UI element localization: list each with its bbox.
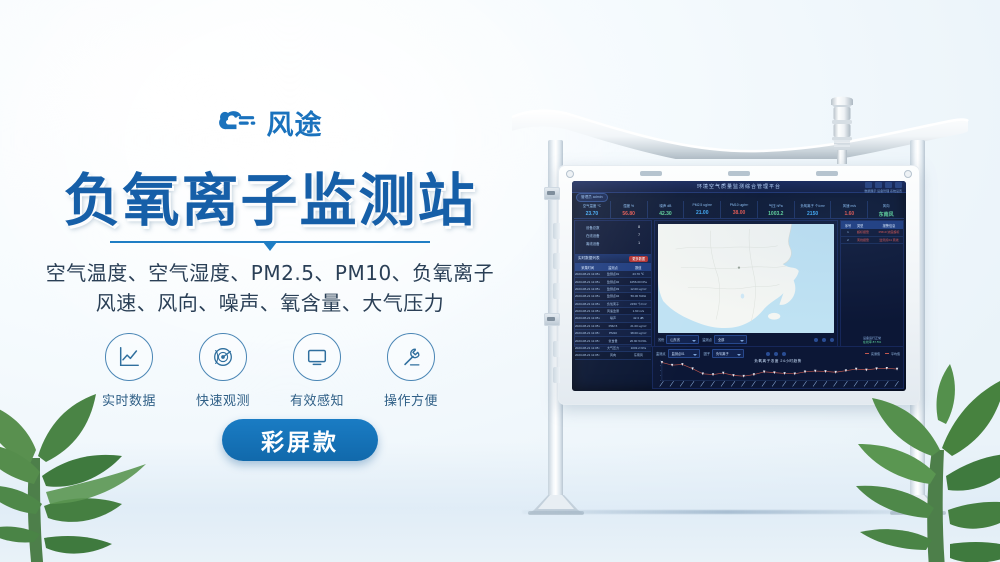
stat-cell: 风速 m/s 1.60 (831, 201, 868, 218)
data-table-columns: 采集时间 监测点 数值 (575, 263, 651, 271)
column-header: 监测点 (600, 263, 625, 271)
vent-icon (728, 171, 750, 176)
cell-time: 2023-08-21 11:05:17 (575, 345, 600, 351)
cell-index: 2 (841, 237, 855, 244)
column-header: 数值 (626, 263, 651, 271)
brand-logo: 风途 (0, 103, 540, 142)
alarm-footer: 设备运行正常 在线率 87.5% (843, 336, 901, 344)
cell-time: 2023-08-21 11:05:26 (575, 278, 600, 284)
layers-icon[interactable] (875, 182, 882, 188)
table-row[interactable]: 2023-08-21 11:05:18 氧含量 20.90 %VOL (575, 337, 651, 344)
title-divider (110, 238, 430, 248)
map-select-value[interactable]: 山东省 (666, 335, 699, 344)
chart-select-label: 因子 (704, 351, 710, 356)
stat-cell: 噪声 dB 42.30 (648, 201, 685, 218)
alarm-row[interactable]: 2 离线报警 监测点04 离线 (841, 237, 903, 245)
stat-cell: 负氧离子 个/cm³ 2150 (795, 201, 832, 218)
mini-kpi-label: 设备总数 (586, 225, 600, 230)
cell-value: 21.00 ug/m³ (626, 323, 651, 329)
cell-time: 2023-08-21 11:05:27 (575, 271, 600, 277)
mini-kpi-value: 7 (638, 233, 640, 238)
table-row[interactable]: 2023-08-21 11:05:25 监测点03 12.00 ug/m³ (575, 286, 651, 293)
view-toggle-icon[interactable] (774, 352, 778, 356)
chart-view-toggles[interactable] (766, 352, 786, 356)
cell-site: 负氧离子 (600, 301, 625, 307)
chart-legend: 实测值 平均值 (865, 352, 900, 356)
feature-label: 快速观测 (192, 390, 254, 409)
map-controls[interactable]: 省份 山东省 监测点 全部 (658, 335, 834, 344)
table-row[interactable]: 2023-08-21 11:05:16 风向 东南风 (575, 352, 651, 359)
dashboard-toolbar-label: 数据展示 设备管理 系统设置 (864, 189, 902, 193)
mini-kpi-list: 设备总数 8 在线设备 7 离线设备 1 (575, 221, 651, 252)
map-select-label: 监测点 (702, 337, 712, 342)
stat-label: 风速 m/s (831, 203, 867, 208)
fengtu-cloud-logo-icon (218, 108, 258, 138)
cell-time: 2023-08-21 11:05:19 (575, 330, 600, 336)
stat-value: 东南风 (868, 211, 904, 218)
side-tab (553, 253, 560, 269)
cell-time: 2023-08-21 11:05:21 (575, 315, 600, 321)
stat-value: 23.70 (574, 211, 610, 217)
cell-time: 2023-08-21 11:05:16 (575, 352, 600, 358)
dashboard-header: 环境空气质量监测综合管理平台 数据展示 设备管理 系统设置 (572, 181, 906, 193)
cell-time: 2023-08-21 11:05:20 (575, 323, 600, 329)
stat-label: 风向 (868, 203, 904, 208)
view-toggle-icon[interactable] (766, 352, 770, 356)
stat-label: 空气温度 ℃ (574, 203, 610, 208)
color-screen-cta-button[interactable]: 彩屏款 (222, 419, 378, 461)
column-header: 报警信息 (875, 221, 903, 229)
cell-value: 42.3 dB (626, 315, 651, 321)
cell-type: 离线报警 (855, 237, 875, 244)
feature-item-fast-observation[interactable]: 快速观测 (192, 333, 254, 409)
stat-value: 21.00 (684, 210, 720, 216)
stat-cell: PM10 ug/m³ 38.00 (721, 201, 758, 218)
more-data-button[interactable]: 更多数据 (629, 256, 648, 262)
cell-site: 监测点01 (600, 271, 625, 277)
chart-toolbar[interactable]: 监测点 监测点01 因子 负氧离子 实测值 (653, 347, 903, 358)
cabinet-top-trim (566, 169, 912, 178)
cell-value: 38.00 ug/m³ (626, 330, 651, 336)
stat-cell: PM2.5 ug/m³ 21.00 (684, 201, 721, 218)
page-title: 负氧离子监测站 (0, 155, 540, 237)
dashboard-middle: 设备总数 8 在线设备 7 离线设备 1 (574, 220, 904, 347)
stat-cell: 气压 hPa 1003.2 (758, 201, 795, 218)
radar-observation-icon (211, 345, 235, 369)
line-chart-icon (117, 345, 141, 369)
feature-icon-ring (293, 333, 341, 381)
cell-site: 风速监测 (600, 308, 625, 314)
legend-dot-icon (814, 338, 818, 342)
cell-time: 2023-08-21 11:05:18 (575, 337, 600, 343)
chart-select-value[interactable]: 负氧离子 (712, 349, 744, 358)
chart-select-value[interactable]: 监测点01 (668, 349, 700, 358)
stat-label: PM10 ug/m³ (721, 203, 757, 207)
data-table-header: 实时数据列表 更多数据 (575, 254, 651, 263)
cell-value: 20.90 %VOL (626, 337, 651, 343)
data-table-body: 2023-08-21 11:05:27 监测点01 23.70 ℃ 2023-0… (575, 271, 651, 360)
wrench-icon (399, 345, 423, 369)
realtime-data-panel: 设备总数 8 在线设备 7 离线设备 1 (574, 220, 652, 347)
vent-icon (816, 171, 838, 176)
cell-message: 监测点04 离线 (875, 237, 903, 244)
side-tab (553, 367, 560, 383)
table-row[interactable]: 2023-08-21 11:05:27 监测点01 23.70 ℃ (575, 271, 651, 278)
foliage-right-decoration (834, 360, 1000, 562)
screw-icon (904, 170, 912, 178)
chart-icon[interactable] (885, 182, 892, 188)
mini-kpi-value: 8 (638, 225, 640, 230)
dashboard-title: 环境空气质量监测综合管理平台 (697, 183, 781, 190)
cell-time: 2023-08-21 11:05:23 (575, 301, 600, 307)
map-panel[interactable]: 省份 山东省 监测点 全部 (654, 220, 838, 347)
alarm-table-header: 序号 类型 报警信息 (841, 221, 903, 229)
legend-item: 平均值 (885, 352, 900, 356)
chart-select-label: 监测点 (656, 351, 666, 356)
chart-select-site[interactable]: 监测点 监测点01 (656, 349, 700, 358)
stat-value: 2150 (795, 211, 831, 217)
stats-bar: 空气温度 ℃ 23.70 湿度 % 56.80 噪声 dB 42.30 PM2.… (574, 201, 904, 219)
alarm-row[interactable]: 1 超标报警 PM10 浓度超标 (841, 229, 903, 237)
side-tab (553, 283, 560, 299)
table-row[interactable]: 2023-08-21 11:05:19 PM10 38.00 ug/m³ (575, 330, 651, 337)
ultrasonic-weather-sensor-icon (822, 95, 862, 167)
divider-triangle-icon (263, 242, 277, 251)
cell-value: 23.70 ℃ (626, 271, 651, 277)
stat-value: 38.00 (721, 210, 757, 216)
column-header: 序号 (841, 221, 855, 229)
column-header: 类型 (855, 221, 875, 229)
subtitle-line-2: 风速、风向、噪声、氧含量、大气压力 (0, 288, 540, 318)
table-row[interactable]: 2023-08-21 11:05:22 风速监测 1.60 m/s (575, 308, 651, 315)
mini-kpi-value: 1 (638, 241, 640, 246)
stat-cell: 空气温度 ℃ 23.70 (574, 201, 611, 218)
cell-value: 2150 个/cm³ (626, 301, 651, 307)
foliage-left-decoration (0, 372, 180, 562)
grid-icon[interactable] (865, 182, 872, 188)
cell-site: PM10 (600, 330, 625, 336)
cell-site: 监测点04 (600, 293, 625, 299)
screw-icon (566, 170, 574, 178)
feature-icon-ring (387, 333, 435, 381)
cell-site: 风向 (600, 352, 625, 358)
cell-site: 监测点02 (600, 278, 625, 284)
feature-label: 操作方便 (380, 390, 442, 409)
cell-index: 1 (841, 229, 855, 236)
feature-icon-ring (199, 333, 247, 381)
mini-kpi-item: 在线设备 7 (580, 233, 646, 238)
stat-label: 噪声 dB (648, 203, 684, 208)
column-header: 采集时间 (575, 263, 600, 271)
mini-kpi-label: 在线设备 (586, 233, 600, 238)
vent-icon (640, 171, 662, 176)
cell-site: 噪声 (600, 315, 625, 321)
table-row[interactable]: 2023-08-21 11:05:26 监测点02 1056.00 hPa (575, 278, 651, 285)
feature-item-easy-operation[interactable]: 操作方便 (380, 333, 442, 409)
hinge-bracket-top (544, 187, 560, 200)
legend-dot-icon (822, 338, 826, 342)
brand-name: 风途 (267, 103, 323, 142)
map-select-label: 省份 (658, 337, 664, 342)
view-toggle-icon[interactable] (782, 352, 786, 356)
china-map[interactable] (658, 224, 834, 333)
cell-time: 2023-08-21 11:05:25 (575, 286, 600, 292)
stat-cell: 风向 东南风 (868, 201, 904, 218)
table-row[interactable]: 2023-08-21 11:05:24 监测点04 56.00 %RH (575, 293, 651, 300)
cell-site: 监测点03 (600, 286, 625, 292)
stat-label: 气压 hPa (758, 203, 794, 208)
cell-type: 超标报警 (855, 229, 875, 236)
dashboard-toolbar[interactable] (865, 182, 902, 188)
map-select-value[interactable]: 全部 (714, 335, 747, 344)
cell-value: 12.00 ug/m³ (626, 286, 651, 292)
stat-value: 56.80 (611, 211, 647, 217)
cell-time: 2023-08-21 11:05:22 (575, 308, 600, 314)
hero-subtitle: 空气温度、空气湿度、PM2.5、PM10、负氧离子 风速、风向、噪声、氧含量、大… (0, 258, 540, 318)
cell-value: 1.60 m/s (626, 308, 651, 314)
alarm-panel: 序号 类型 报警信息 1 超标报警 PM10 浓度超标 2 离线报警 监 (840, 220, 904, 347)
stat-label: 湿度 % (611, 203, 647, 208)
alarm-footer-status: 在线率 87.5% (843, 340, 901, 344)
legend-dot-icon (830, 338, 834, 342)
wave-canopy-icon (510, 95, 970, 159)
stat-value: 1003.2 (758, 211, 794, 217)
hinge-bracket-bottom (544, 313, 560, 326)
cell-message: PM10 浓度超标 (875, 229, 903, 236)
cell-site: 氧含量 (600, 337, 625, 343)
table-row[interactable]: 2023-08-21 11:05:21 噪声 42.3 dB (575, 315, 651, 322)
map-legend-dots (814, 338, 834, 342)
settings-icon[interactable] (895, 182, 902, 188)
table-row[interactable]: 2023-08-21 11:05:20 PM2.5 21.00 ug/m³ (575, 323, 651, 330)
cell-site: 大气压力 (600, 345, 625, 351)
stat-label: 负氧离子 个/cm³ (795, 203, 831, 208)
stat-value: 1.60 (831, 211, 867, 217)
subtitle-line-1: 空气温度、空气湿度、PM2.5、PM10、负氧离子 (0, 258, 540, 288)
cell-value: 1003.2 hPa (626, 345, 651, 351)
map-select-site[interactable]: 监测点 全部 (702, 335, 747, 344)
side-tab (553, 341, 560, 357)
mini-kpi-item: 设备总数 8 (580, 225, 646, 230)
map-select-province[interactable]: 省份 山东省 (658, 335, 699, 344)
mini-kpi-item: 离线设备 1 (580, 241, 646, 246)
mini-kpi-label: 离线设备 (586, 241, 600, 246)
table-row[interactable]: 2023-08-21 11:05:23 负氧离子 2150 个/cm³ (575, 301, 651, 308)
stat-value: 42.30 (648, 211, 684, 217)
data-table-title: 实时数据列表 (578, 256, 600, 261)
legend-item: 实测值 (865, 352, 880, 356)
stat-label: PM2.5 ug/m³ (684, 203, 720, 207)
cell-value: 56.00 %RH (626, 293, 651, 299)
promo-banner: 风途 负氧离子监测站 空气温度、空气湿度、PM2.5、PM10、负氧离子 风速、… (0, 0, 1000, 562)
monitor-screen-icon (305, 345, 329, 369)
side-tab (553, 223, 560, 239)
cell-site: PM2.5 (600, 323, 625, 329)
chart-select-factor[interactable]: 因子 负氧离子 (704, 349, 744, 358)
cell-value: 1056.00 hPa (626, 278, 651, 284)
stat-cell: 湿度 % 56.80 (611, 201, 648, 218)
table-row[interactable]: 2023-08-21 11:05:17 大气压力 1003.2 hPa (575, 345, 651, 352)
feature-item-effective-sensing[interactable]: 有效感知 (286, 333, 348, 409)
cell-time: 2023-08-21 11:05:24 (575, 293, 600, 299)
feature-label: 有效感知 (286, 390, 348, 409)
cell-value: 东南风 (626, 352, 651, 358)
